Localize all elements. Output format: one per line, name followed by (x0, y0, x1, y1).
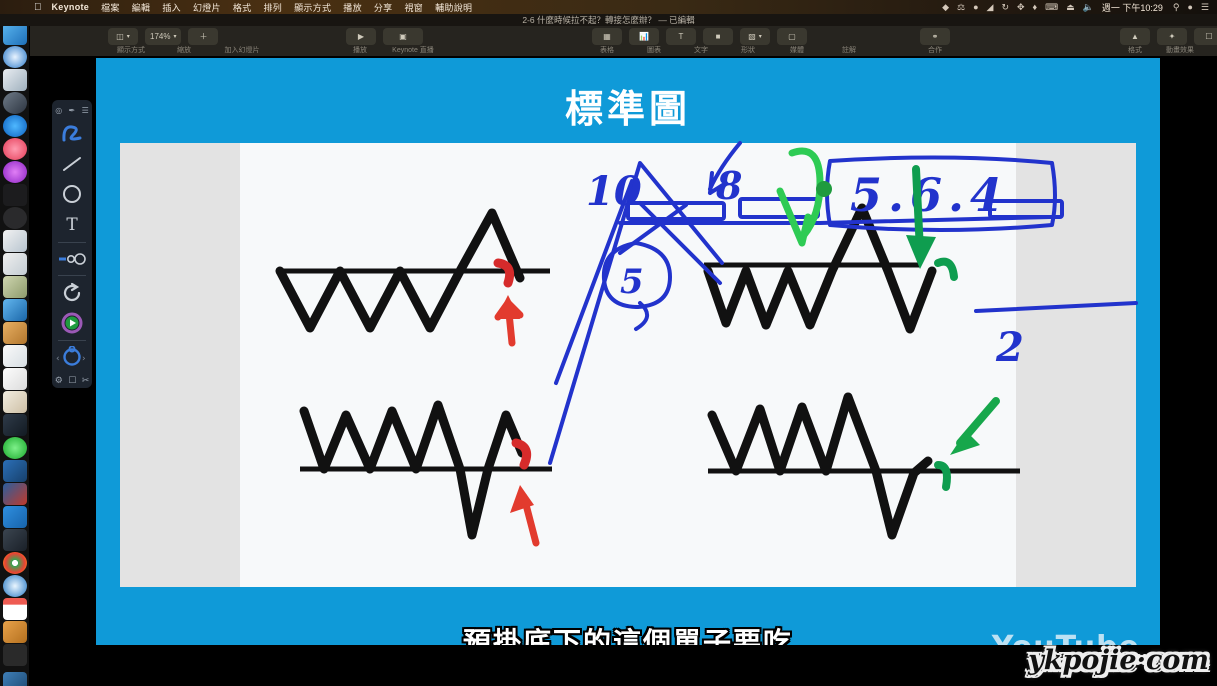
menu-item-file[interactable]: 檔案 (101, 1, 120, 14)
table-button[interactable]: ▦ (592, 28, 622, 45)
dock-item-notes[interactable] (3, 368, 27, 390)
green-hook-annotation (938, 465, 947, 487)
bottom-left-chart (300, 405, 552, 543)
ink-number-10: 10 (586, 168, 642, 215)
eraser-icon[interactable]: ⚙ (55, 375, 63, 386)
menu-icon[interactable]: ☰ (82, 106, 89, 115)
stroke-width-icon (57, 251, 87, 267)
red-hook-annotation (516, 443, 527, 465)
line-icon (59, 153, 85, 175)
green-down-arrow-shaft (916, 169, 920, 251)
animate-button[interactable]: ✦ (1157, 28, 1187, 45)
target-icon[interactable]: ◎ (55, 106, 62, 115)
menu-item-view[interactable]: 顯示方式 (294, 1, 331, 14)
document-icon: ☐ (1205, 32, 1212, 41)
menu-item-window[interactable]: 視窗 (404, 1, 423, 14)
play-color-icon (59, 312, 85, 334)
ink-number-564: 5.6.4 (850, 168, 1008, 222)
site-watermark: ykpojie·com (1028, 645, 1209, 676)
keynote-toolbar: ◫▾ 174%▾ ＋ 顯示方式 縮放 加入幻燈片 ▶ ▣ 播放 Keynote … (30, 26, 1217, 56)
format-button[interactable]: ▲ (1120, 28, 1150, 45)
dock-item-safari-2[interactable] (3, 575, 27, 597)
menu-item-arrange[interactable]: 排列 (263, 1, 282, 14)
chart-button[interactable]: 📊 (629, 28, 659, 45)
toolbar-collab-group: ⚭ (920, 28, 950, 45)
slide-title: 標準圖 (96, 78, 1160, 133)
animate-icon: ✦ (1169, 32, 1176, 41)
price-line (708, 208, 932, 329)
text-tool[interactable]: T (52, 210, 92, 241)
palette-separator-1 (58, 242, 86, 243)
blue-ink-numbers: 10 8 5 5.6.4 2 (586, 163, 1024, 371)
pen-nib-icon[interactable]: ✒ (69, 106, 76, 115)
laser-pointer-tool[interactable] (52, 308, 92, 339)
color-wheel-tool[interactable]: ‹ › (52, 342, 92, 373)
top-left-chart (276, 213, 550, 343)
palette-footer: ⚙ ☐ ✂ (52, 373, 92, 388)
play-button[interactable]: ▶ (346, 28, 376, 45)
dock-item-calendar[interactable] (3, 598, 27, 620)
chart-label: 圖表 (635, 45, 673, 55)
shield-icon[interactable]: ♦ (1033, 2, 1038, 12)
toolbar-center-group: ▶ ▣ (346, 28, 423, 45)
toolbar-right-group: ▦ 📊 T ■ ▧▾ ▢ (592, 28, 807, 45)
charts-layer: 10 8 5 5.6.4 2 (120, 143, 1136, 587)
bottom-right-chart (708, 397, 1020, 535)
blue-arrow-head (710, 173, 726, 193)
control-center-icon[interactable]: ☰ (1201, 2, 1209, 13)
play-icon: ▶ (358, 32, 364, 41)
broadcast-icon: ▣ (399, 32, 407, 41)
pen-tool[interactable] (52, 117, 92, 148)
dock-item-tv[interactable] (3, 184, 27, 206)
dock-item-books[interactable] (3, 621, 27, 643)
dock-item-mail[interactable] (3, 69, 27, 91)
volume-icon[interactable]: 🔈 (1083, 2, 1094, 13)
chevron-down-icon: ▾ (127, 33, 130, 40)
animate-label: 動畫效果 (1156, 45, 1204, 55)
blue-slash-2 (640, 203, 720, 283)
ink-number-5-circled: 5 (620, 262, 644, 302)
chevron-down-icon: ▾ (759, 33, 762, 40)
live-button[interactable]: ▣ (383, 28, 423, 45)
eject-icon[interactable]: ⏏ (1066, 2, 1075, 13)
red-arrow-head (496, 295, 520, 319)
play-button-label: 播放 (340, 45, 380, 55)
menu-app-name[interactable]: Keynote (52, 2, 90, 12)
view-icon: ◫ (116, 32, 124, 41)
format-label: 格式 (1116, 45, 1154, 55)
blue-order-box-1 (628, 203, 724, 219)
chart-icon: 📊 (639, 32, 649, 41)
pen-stroke-icon (59, 122, 85, 144)
bluetooth-icon[interactable]: ✥ (1017, 2, 1025, 13)
dock-item-music[interactable] (3, 138, 27, 160)
comment-label: 註解 (830, 45, 868, 55)
blue-slash-1 (620, 205, 686, 253)
comment-button[interactable]: ▢ (777, 28, 807, 45)
dock-item-preview[interactable] (3, 230, 27, 252)
plus-icon: ＋ (199, 31, 207, 42)
dock-item-charts-app[interactable] (3, 414, 27, 436)
keyboard-icon[interactable]: ⌨ (1045, 2, 1058, 13)
dock-item-downloads-app[interactable] (3, 529, 27, 551)
green-curve-arrow-shaft (792, 151, 820, 235)
price-line (280, 213, 520, 328)
menu-item-insert[interactable]: 插入 (162, 1, 181, 14)
shape-button[interactable]: ■ (703, 28, 733, 45)
dock-item-preview2[interactable] (3, 253, 27, 275)
scissors-icon[interactable]: ✂ (82, 375, 90, 386)
view-button[interactable]: ◫▾ (108, 28, 138, 45)
price-line (712, 397, 928, 535)
media-button[interactable]: ▧▾ (740, 28, 770, 45)
palette-header: ◎ ✒ ☰ (52, 104, 92, 117)
text-icon: T (679, 32, 684, 41)
line-tool[interactable] (52, 148, 92, 179)
dock-item-keynote[interactable] (3, 299, 27, 321)
green-ink-annotations (780, 151, 936, 269)
view-button-label: 顯示方式 (108, 45, 154, 55)
text-t-icon: T (66, 215, 77, 235)
palette-separator-3 (58, 340, 86, 341)
dock-item-graphics[interactable] (3, 391, 27, 413)
table-label: 表格 (588, 45, 626, 55)
dock-item-chrome[interactable] (3, 552, 27, 574)
media-label: 媒體 (778, 45, 816, 55)
document-label: 文件 (1206, 45, 1217, 55)
green-arrow-head (950, 431, 980, 455)
collaborate-icon: ⚭ (932, 32, 939, 41)
menu-item-slide[interactable]: 幻燈片 (193, 1, 221, 14)
dock-item-windows[interactable] (3, 506, 27, 528)
pin-icon[interactable]: ⚖ (957, 2, 965, 13)
blue-arrow-shaft (710, 143, 740, 189)
dock-item-appstore[interactable] (3, 115, 27, 137)
zoom-value: 174% (150, 32, 170, 41)
dock-item-finder[interactable] (3, 23, 27, 45)
menu-item-format[interactable]: 格式 (233, 1, 252, 14)
blue-circle-tail (636, 303, 647, 329)
dock-item-numbers[interactable] (3, 276, 27, 298)
ink-number-8: 8 (715, 163, 742, 208)
timemachine-icon[interactable]: ↻ (1001, 2, 1009, 13)
dock-item-folder[interactable] (3, 322, 27, 344)
annotation-palette[interactable]: ◎ ✒ ☰ T (52, 100, 92, 388)
search-icon[interactable]: ⚲ (1173, 2, 1180, 13)
blue-circle-5 (604, 243, 670, 307)
green-down-arrow-head (906, 235, 936, 269)
green-arrow-shaft (960, 401, 996, 443)
color-wheel-icon: ‹ › (55, 346, 89, 368)
menu-item-help[interactable]: 輔助說明 (435, 1, 472, 14)
blue-order-line (620, 217, 1050, 223)
board-left-margin (120, 143, 240, 587)
dock-item-contacts[interactable] (3, 92, 27, 114)
chevron-down-icon: ▾ (173, 33, 176, 40)
peak-dot (856, 205, 868, 217)
price-line (304, 405, 522, 535)
add-slide-button[interactable]: ＋ (188, 28, 218, 45)
dock-item-wechat[interactable] (3, 437, 27, 459)
text-button[interactable]: T (666, 28, 696, 45)
dock-item-recent-1[interactable] (3, 672, 27, 686)
svg-text:‹: ‹ (56, 354, 60, 364)
zoom-button[interactable]: 174%▾ (145, 28, 181, 45)
green-cursor-dot[interactable] (816, 181, 832, 197)
menu-item-play[interactable]: 播放 (343, 1, 362, 14)
collaborate-label: 合作 (916, 45, 954, 55)
screen:  Keynote 檔案 編輯 插入 幻燈片 格式 排列 顯示方式 播放 分享 … (0, 0, 1217, 686)
dock (0, 20, 30, 686)
add-slide-label: 加入幻燈片 (212, 45, 272, 55)
board-right-margin (1016, 143, 1136, 587)
toolbar-left-group: ◫▾ 174%▾ ＋ (108, 28, 218, 45)
live-button-label: Keynote 直播 (378, 45, 448, 55)
siri-icon[interactable]: ● (1187, 2, 1192, 12)
stroke-width-tool[interactable] (52, 244, 92, 275)
red-hook-annotation (498, 263, 510, 283)
dropbox-icon[interactable]: ◆ (942, 2, 949, 13)
dock-item-screens[interactable] (3, 483, 27, 505)
dock-item-terminal[interactable] (3, 644, 27, 666)
menu-item-edit[interactable]: 編輯 (132, 1, 151, 14)
media-icon: ▧ (748, 32, 756, 41)
menu-clock[interactable]: 週一 下午10:29 (1102, 1, 1163, 14)
svg-text:›: › (82, 354, 86, 364)
zoom-button-label: 縮放 (162, 45, 206, 55)
duplicate-icon[interactable]: ☐ (68, 375, 76, 386)
apple-logo-icon[interactable]:  (34, 2, 42, 13)
blue-diagonal (556, 181, 632, 383)
whiteboard: 10 8 5 5.6.4 2 (120, 143, 1136, 587)
dock-item-remote-desktop[interactable] (3, 460, 27, 482)
undo-tool[interactable] (52, 277, 92, 308)
undo-circular-icon (59, 282, 85, 304)
green-arrow-v (780, 191, 808, 243)
document-button[interactable]: ☐ (1194, 28, 1217, 45)
shape-icon: ■ (716, 32, 721, 41)
dock-item-podcasts[interactable] (3, 161, 27, 183)
graph-icon[interactable]: ◢ (987, 2, 994, 13)
red-arrow-head (510, 485, 534, 513)
comment-icon: ▢ (788, 32, 796, 41)
collaborate-button[interactable]: ⚭ (920, 28, 950, 45)
toolbar-inspector-group: ▲ ✦ ☐ (1120, 28, 1217, 45)
menu-bar:  Keynote 檔案 編輯 插入 幻燈片 格式 排列 顯示方式 播放 分享 … (0, 0, 1217, 14)
dock-item-photos[interactable] (3, 207, 27, 229)
table-icon: ▦ (603, 32, 611, 41)
top-right-chart (704, 205, 954, 329)
document-title: 2-6 什麼時候拉不起？轉接怎麼辦？ — 已編輯 (0, 14, 1217, 26)
format-brush-icon: ▲ (1131, 32, 1139, 41)
shape-label: 形狀 (729, 45, 767, 55)
red-arrow-annotation (498, 303, 520, 343)
circle-icon (59, 183, 85, 205)
text-label: 文字 (682, 45, 720, 55)
checkmark-icon[interactable]: ● (973, 2, 978, 12)
ellipse-tool[interactable] (52, 179, 92, 210)
menu-item-share[interactable]: 分享 (374, 1, 393, 14)
dock-item-pages[interactable] (3, 345, 27, 367)
palette-separator-2 (58, 275, 86, 276)
green-hook-annotation (938, 262, 954, 277)
blue-order-box-2 (740, 199, 818, 217)
red-arrow-shaft (524, 497, 536, 543)
blue-triangle (550, 163, 722, 463)
slide-canvas[interactable]: 標準圖 (96, 58, 1160, 671)
dock-item-safari[interactable] (3, 46, 27, 68)
